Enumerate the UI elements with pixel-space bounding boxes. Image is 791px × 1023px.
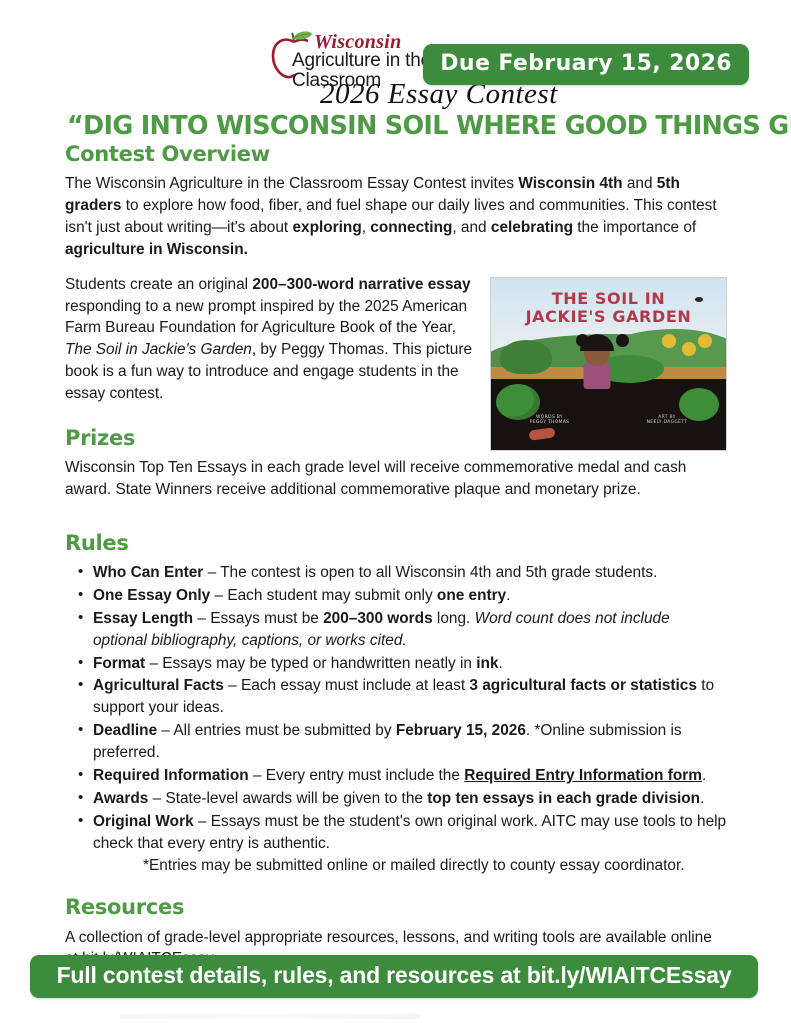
text-run: – [193, 610, 210, 627]
cover-credit-art: ART BY NEELY DAGGETT [647, 415, 688, 425]
text-run: – [148, 790, 165, 807]
sunflower-icon [698, 334, 712, 348]
rule-term: One Essay Only [93, 587, 210, 604]
rule-term: Awards [93, 790, 148, 807]
rule-term: Original Work [93, 813, 194, 830]
overview-paragraph-1: The Wisconsin Agriculture in the Classro… [65, 173, 727, 261]
text-run: . [702, 767, 706, 784]
rule-text: Each student may submit only [227, 587, 437, 604]
rule-awards: Awards – State-level awards will be give… [93, 788, 727, 810]
rule-one-essay-only: One Essay Only – Each student may submit… [93, 585, 727, 607]
text-bold: February 15, 2026 [396, 722, 526, 739]
text-run: – [224, 677, 241, 694]
rule-text: State-level awards will be given to the [165, 790, 427, 807]
text-bold: 200–300-word narrative essay [252, 276, 470, 293]
text-run: – [203, 564, 220, 581]
text-run: – [249, 767, 266, 784]
text-bold: ink [476, 655, 498, 672]
rule-format: Format – Essays may be typed or handwrit… [93, 653, 727, 675]
text-bold: agriculture in Wisconsin. [65, 241, 248, 258]
text-bold: one entry [437, 587, 506, 604]
sunflower-icon [682, 342, 696, 356]
cover-credits: WORDS BY PEGGY THOMAS ART BY NEELY DAGGE… [491, 415, 726, 425]
text-run: – [194, 813, 211, 830]
rule-agricultural-facts: Agricultural Facts – Each essay must inc… [93, 675, 727, 719]
text-run: , [362, 219, 371, 236]
heading-rules: Rules [65, 531, 727, 556]
rule-text: Essays may be typed or handwritten neatl… [162, 655, 476, 672]
text-run: – [145, 655, 162, 672]
text-run: The Wisconsin Agriculture in the Classro… [65, 175, 518, 192]
cover-title-line-1: THE SOIL IN [491, 290, 726, 308]
rule-essay-length: Essay Length – Essays must be 200–300 wo… [93, 608, 727, 652]
text-bold: Wisconsin 4th [518, 175, 622, 192]
page-title: “DIG INTO WISCONSIN SOIL WHERE GOOD THIN… [67, 112, 727, 140]
page-header: Wisconsin Agriculture in the Classroom 2… [0, 0, 791, 112]
sunflower-icon [662, 334, 676, 348]
footer-cta-banner[interactable]: Full contest details, rules, and resourc… [30, 955, 758, 998]
text-run: , and [452, 219, 491, 236]
text-bold: celebrating [491, 219, 573, 236]
rule-deadline: Deadline – All entries must be submitted… [93, 720, 727, 764]
book-cover-image: THE SOIL IN JACKIE'S GARDEN WORDS BY PEG… [490, 277, 727, 451]
cover-hair-puff-right [616, 334, 629, 347]
rule-text: Essays must be [210, 610, 323, 627]
text-run: . [499, 655, 503, 672]
prizes-paragraph: Wisconsin Top Ten Essays in each grade l… [65, 457, 727, 501]
credit-name: NEELY DAGGETT [647, 420, 688, 425]
cover-sunflowers [662, 334, 712, 364]
text-bold: exploring [292, 219, 361, 236]
rule-term: Essay Length [93, 610, 193, 627]
rule-text: Each essay must include at least [241, 677, 469, 694]
text-run: – [157, 722, 173, 739]
credit-name: PEGGY THOMAS [530, 420, 570, 425]
cover-title: THE SOIL IN JACKIE'S GARDEN [491, 290, 726, 326]
text-run: Students create an original [65, 276, 252, 293]
heading-resources: Resources [65, 895, 727, 920]
rule-who-can-enter: Who Can Enter – The contest is open to a… [93, 562, 727, 584]
rule-term: Required Information [93, 767, 249, 784]
text-bold: connecting [370, 219, 452, 236]
text-run: long. [433, 610, 475, 627]
cover-credit-words: WORDS BY PEGGY THOMAS [530, 415, 570, 425]
text-bold: 3 agricultural facts or statistics [469, 677, 697, 694]
rule-term: Deadline [93, 722, 157, 739]
cover-bush-left [500, 340, 552, 374]
text-run: responding to a new prompt inspired by t… [65, 298, 467, 337]
rule-original-work: Original Work – Essays must be the stude… [93, 811, 727, 855]
rule-term: Who Can Enter [93, 564, 203, 581]
cover-title-line-2: JACKIE'S GARDEN [491, 308, 726, 326]
text-run: . [506, 587, 510, 604]
rule-text: The contest is open to all Wisconsin 4th… [220, 564, 657, 581]
submission-note: *Entries may be submitted online or mail… [143, 855, 727, 877]
rule-text: Every entry must include the [266, 767, 464, 784]
rule-term: Format [93, 655, 145, 672]
scan-artifact [120, 1014, 420, 1019]
text-run: and [623, 175, 657, 192]
text-run: – [210, 587, 227, 604]
text-bold: 200–300 words [323, 610, 433, 627]
text-run: the importance of [573, 219, 696, 236]
rules-list: Who Can Enter – The contest is open to a… [65, 562, 727, 854]
required-entry-information-form-link[interactable]: Required Entry Information form [464, 767, 702, 784]
text-run: . [700, 790, 704, 807]
overview-with-cover: THE SOIL IN JACKIE'S GARDEN WORDS BY PEG… [65, 274, 727, 514]
document-body: “DIG INTO WISCONSIN SOIL WHERE GOOD THIN… [65, 112, 727, 970]
cover-girl-body [583, 362, 610, 389]
due-date-badge: Due February 15, 2026 [423, 44, 749, 85]
rule-required-information: Required Information – Every entry must … [93, 765, 727, 787]
rule-text: All entries must be submitted by [173, 722, 395, 739]
book-title-italic: The Soil in Jackie's Garden [65, 341, 252, 358]
rule-term: Agricultural Facts [93, 677, 224, 694]
heading-contest-overview: Contest Overview [65, 142, 727, 167]
text-bold: top ten essays in each grade division [427, 790, 700, 807]
